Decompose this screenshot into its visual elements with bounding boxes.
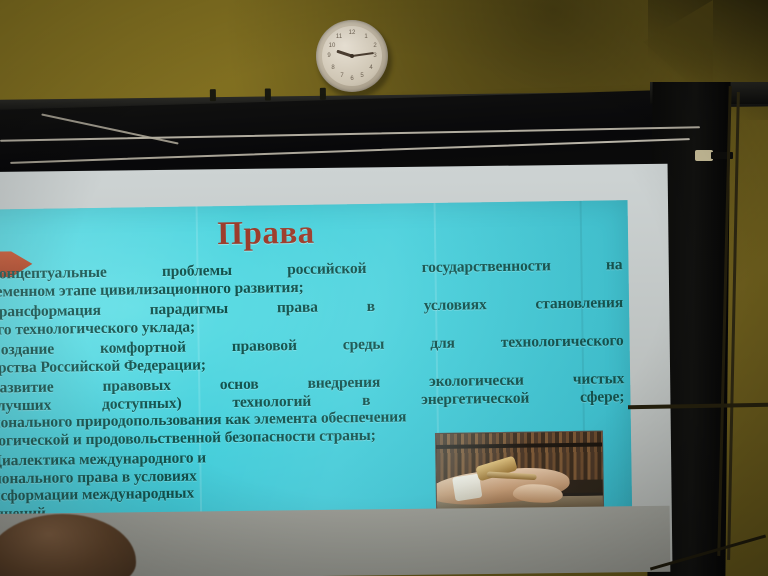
- list-item-text: Создание комфортной правовой среды для т…: [0, 332, 624, 377]
- clock-numeral: 8: [331, 65, 334, 71]
- clock-numeral: 2: [373, 43, 376, 49]
- clock-numeral: 12: [349, 30, 356, 36]
- list-item: Трансформация парадигмы права в условиях…: [0, 294, 623, 339]
- list-item-text: Концептуальные проблемы российской госуд…: [0, 256, 623, 301]
- list-item: Концептуальные проблемы российской госуд…: [0, 256, 623, 301]
- rail-hook: [265, 88, 271, 100]
- clock-numeral: 3: [373, 53, 376, 59]
- wall-clock: 12 1 2 3 4 5 6 7 8 9 10 11: [316, 20, 394, 98]
- clock-numeral: 7: [340, 73, 343, 79]
- clock-numeral: 6: [350, 76, 353, 82]
- rail-hook: [210, 89, 216, 101]
- clock-numeral: 5: [360, 73, 363, 79]
- clock-face: 12 1 2 3 4 5 6 7 8 9 10 11: [322, 26, 382, 86]
- clock-numeral: 10: [329, 43, 336, 49]
- slide-title: Права: [0, 210, 628, 257]
- clock-numeral: 1: [364, 34, 367, 40]
- rail-hook: [320, 88, 326, 100]
- clock-numeral: 4: [369, 65, 372, 71]
- clock-numeral: 9: [327, 53, 330, 59]
- list-item-text: Трансформация парадигмы права в условиях…: [0, 294, 623, 339]
- list-item: Создание комфортной правовой среды для т…: [0, 332, 624, 377]
- lecture-room-photo: 12 1 2 3 4 5 6 7 8 9 10 11: [0, 0, 768, 576]
- presentation-slide: Права 6 Концептуальные проблемы российск…: [0, 200, 632, 540]
- clock-center-pin: [350, 54, 354, 58]
- clock-numeral: 11: [336, 34, 342, 40]
